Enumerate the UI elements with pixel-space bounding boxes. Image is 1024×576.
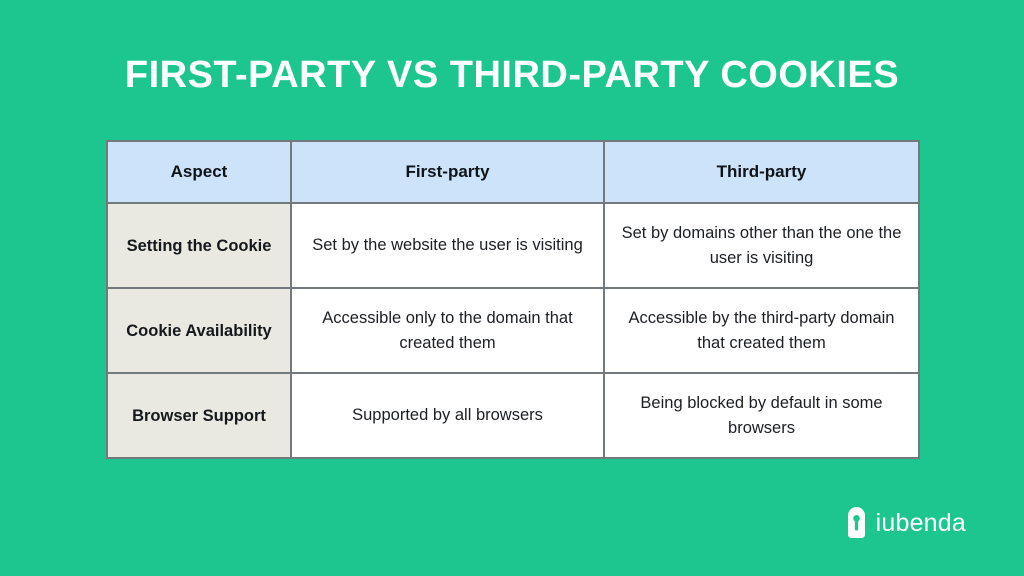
cell-first-party-cookie-availability: Accessible only to the domain that creat… — [291, 288, 604, 373]
cell-third-party-setting-the-cookie: Set by domains other than the one the us… — [604, 203, 919, 288]
cell-first-party-browser-support: Supported by all browsers — [291, 373, 604, 458]
column-header-first-party: First-party — [291, 141, 604, 203]
row-label-browser-support: Browser Support — [107, 373, 291, 458]
keyhole-icon — [848, 507, 865, 538]
brand-wordmark: iubenda — [876, 509, 966, 537]
table-body: Setting the Cookie Set by the website th… — [107, 203, 919, 458]
table-row: Setting the Cookie Set by the website th… — [107, 203, 919, 288]
row-label-setting-the-cookie: Setting the Cookie — [107, 203, 291, 288]
table-row: Browser Support Supported by all browser… — [107, 373, 919, 458]
comparison-table-container: Aspect First-party Third-party Setting t… — [106, 140, 918, 459]
column-header-aspect: Aspect — [107, 141, 291, 203]
row-label-cookie-availability: Cookie Availability — [107, 288, 291, 373]
slide-canvas: FIRST-PARTY VS THIRD-PARTY COOKIES Aspec… — [0, 0, 1024, 576]
column-header-third-party: Third-party — [604, 141, 919, 203]
cell-third-party-browser-support: Being blocked by default in some browser… — [604, 373, 919, 458]
page-title: FIRST-PARTY VS THIRD-PARTY COOKIES — [0, 52, 1024, 98]
cell-first-party-setting-the-cookie: Set by the website the user is visiting — [291, 203, 604, 288]
cell-third-party-cookie-availability: Accessible by the third-party domain tha… — [604, 288, 919, 373]
table-row: Cookie Availability Accessible only to t… — [107, 288, 919, 373]
table-header-row: Aspect First-party Third-party — [107, 141, 919, 203]
comparison-table: Aspect First-party Third-party Setting t… — [106, 140, 920, 459]
table-header: Aspect First-party Third-party — [107, 141, 919, 203]
brand-logo: iubenda — [848, 507, 966, 538]
